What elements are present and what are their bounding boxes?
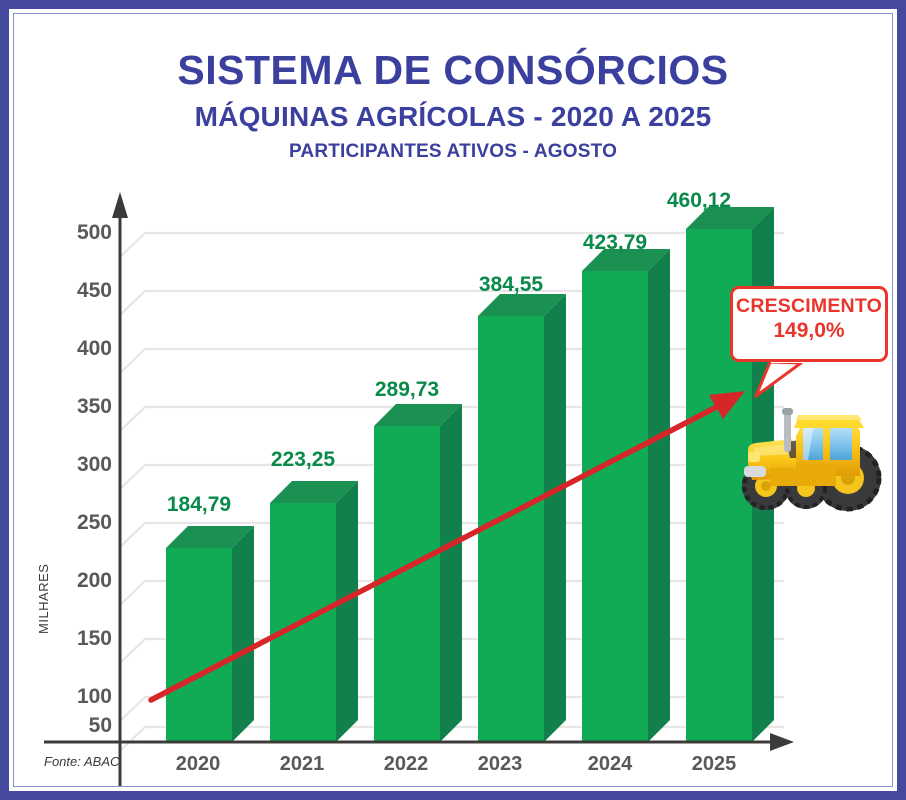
y-tick-50: 50 — [50, 714, 112, 738]
chart-plot-area: 500 450 400 350 300 250 200 150 100 50 M… — [14, 14, 893, 787]
y-tick-350: 350 — [50, 395, 112, 419]
data-label-2023: 384,55 — [456, 273, 566, 297]
data-label-2025: 460,12 — [644, 189, 754, 213]
bar-2022 — [374, 404, 462, 742]
y-tick-100: 100 — [50, 685, 112, 709]
x-tick-2021: 2021 — [257, 753, 347, 776]
x-tick-2020: 2020 — [153, 753, 243, 776]
growth-callout-label: CRESCIMENTO — [733, 296, 885, 316]
data-label-2020: 184,79 — [144, 493, 254, 517]
poster-frame: SISTEMA DE CONSÓRCIOS MÁQUINAS AGRÍCOLAS… — [0, 0, 906, 800]
data-label-2022: 289,73 — [352, 378, 462, 402]
y-axis-title: MILHARES — [36, 564, 51, 634]
bar-2023 — [478, 294, 566, 742]
y-tick-450: 450 — [50, 279, 112, 303]
source-note: Fonte: ABAC — [44, 754, 119, 769]
y-tick-400: 400 — [50, 337, 112, 361]
y-tick-500: 500 — [50, 221, 112, 245]
x-tick-2024: 2024 — [565, 753, 655, 776]
x-tick-2023: 2023 — [455, 753, 545, 776]
data-label-2024: 423,79 — [560, 231, 670, 255]
bar-2021 — [270, 481, 358, 742]
growth-callout-value: 149,0% — [733, 320, 885, 342]
x-tick-2025: 2025 — [669, 753, 759, 776]
data-label-2021: 223,25 — [248, 448, 358, 472]
bar-2020 — [166, 526, 254, 742]
y-tick-200: 200 — [50, 569, 112, 593]
x-tick-2022: 2022 — [361, 753, 451, 776]
y-tick-150: 150 — [50, 627, 112, 651]
y-tick-300: 300 — [50, 453, 112, 477]
growth-callout: CRESCIMENTO 149,0% — [730, 286, 888, 362]
poster-inner: SISTEMA DE CONSÓRCIOS MÁQUINAS AGRÍCOLAS… — [13, 13, 893, 787]
bar-2024 — [582, 249, 670, 742]
y-tick-250: 250 — [50, 511, 112, 535]
